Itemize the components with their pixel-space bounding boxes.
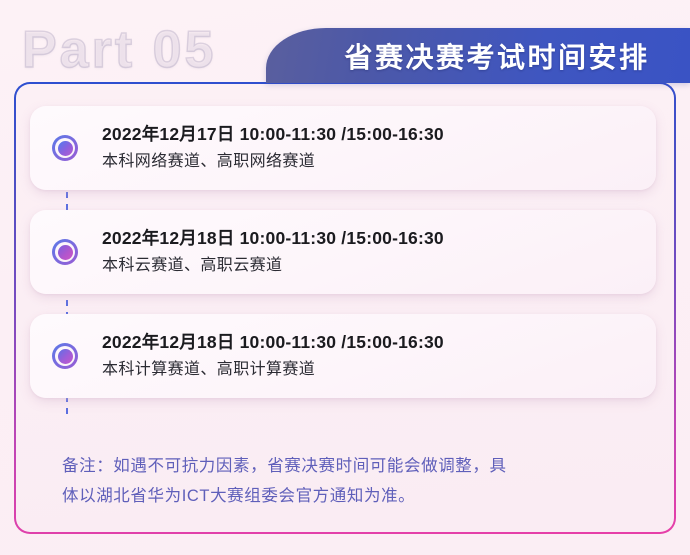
timeline-dot-core bbox=[58, 245, 73, 260]
schedule-item-datetime: 2022年12月18日 10:00-11:30 /15:00-16:30 bbox=[102, 331, 444, 355]
schedule-item-tracks: 本科网络赛道、高职网络赛道 bbox=[102, 151, 444, 173]
footnote: 备注：如遇不可抗力因素，省赛决赛时间可能会做调整，具 体以湖北省华为ICT大赛组… bbox=[62, 451, 644, 512]
timeline-dot-icon bbox=[52, 239, 78, 265]
schedule-item-3[interactable]: 2022年12月18日 10:00-11:30 /15:00-16:30 本科计… bbox=[30, 314, 656, 398]
schedule-panel-inner: 2022年12月17日 10:00-11:30 /15:00-16:30 本科网… bbox=[16, 84, 674, 532]
schedule-list: 2022年12月17日 10:00-11:30 /15:00-16:30 本科网… bbox=[16, 84, 674, 398]
schedule-item-text: 2022年12月18日 10:00-11:30 /15:00-16:30 本科云… bbox=[30, 227, 460, 276]
schedule-item-tracks: 本科计算赛道、高职计算赛道 bbox=[102, 359, 444, 381]
schedule-item-1[interactable]: 2022年12月17日 10:00-11:30 /15:00-16:30 本科网… bbox=[30, 106, 656, 190]
schedule-item-text: 2022年12月17日 10:00-11:30 /15:00-16:30 本科网… bbox=[30, 123, 460, 172]
schedule-item-text: 2022年12月18日 10:00-11:30 /15:00-16:30 本科计… bbox=[30, 331, 460, 380]
schedule-item-datetime: 2022年12月18日 10:00-11:30 /15:00-16:30 bbox=[102, 227, 444, 251]
schedule-item-2[interactable]: 2022年12月18日 10:00-11:30 /15:00-16:30 本科云… bbox=[30, 210, 656, 294]
section-banner: 省赛决赛考试时间安排 bbox=[266, 28, 690, 83]
schedule-item-tracks: 本科云赛道、高职云赛道 bbox=[102, 255, 444, 277]
footnote-line-2: 体以湖北省华为ICT大赛组委会官方通知为准。 bbox=[62, 481, 644, 512]
footnote-line-1: 备注：如遇不可抗力因素，省赛决赛时间可能会做调整，具 bbox=[62, 451, 644, 482]
timeline-dot-icon bbox=[52, 135, 78, 161]
section-title: 省赛决赛考试时间安排 bbox=[292, 36, 663, 76]
timeline-dot-icon bbox=[52, 343, 78, 369]
schedule-panel: 2022年12月17日 10:00-11:30 /15:00-16:30 本科网… bbox=[14, 82, 676, 534]
timeline-dot-core bbox=[58, 349, 73, 364]
part-watermark: Part 05 bbox=[22, 24, 216, 76]
schedule-item-datetime: 2022年12月17日 10:00-11:30 /15:00-16:30 bbox=[102, 123, 444, 147]
timeline-dot-core bbox=[58, 141, 73, 156]
